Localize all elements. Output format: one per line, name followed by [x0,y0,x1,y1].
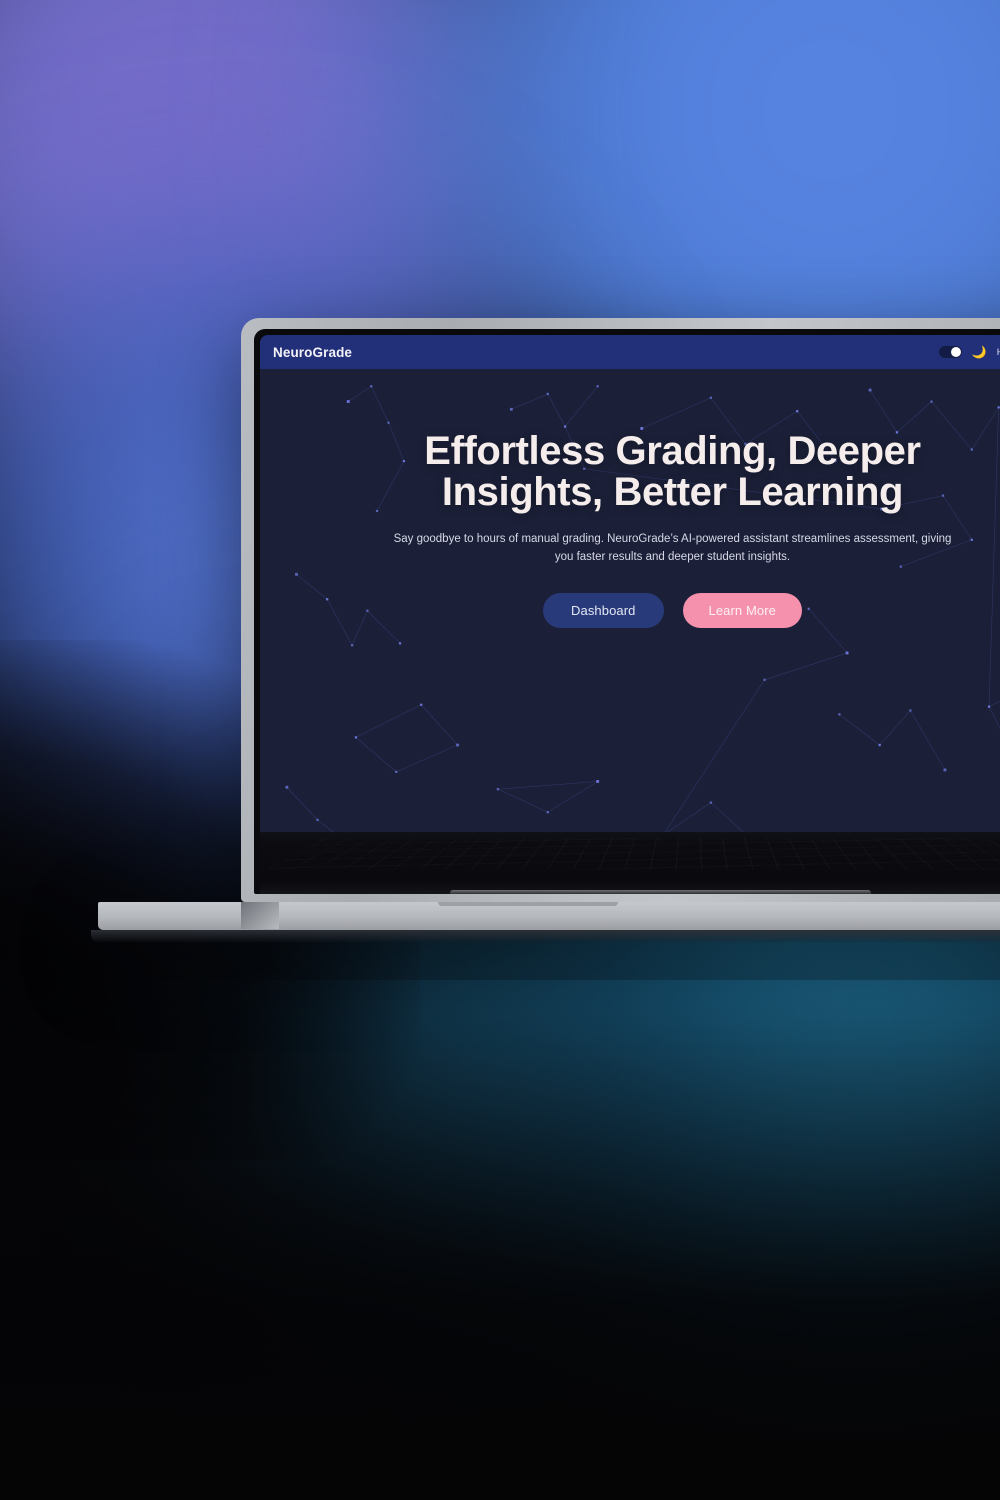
hero-section: Effortless Grading, Deeper Insights, Bet… [260,369,1000,894]
laptop-base [98,902,1000,930]
hero-title: Effortless Grading, Deeper Insights, Bet… [260,431,1000,513]
trackpad-lip [450,890,871,894]
laptop-mockup: NeuroGrade 🌙 Hello, Manik L Effortless G… [241,318,1000,902]
learn-more-button[interactable]: Learn More [683,593,802,628]
header-actions: 🌙 Hello, Manik L [939,341,1000,363]
hero-actions: Dashboard Learn More [260,593,1000,628]
laptop-base-shadow [91,930,1000,942]
laptop-bezel: NeuroGrade 🌙 Hello, Manik L Effortless G… [254,329,1000,894]
hero-content: Effortless Grading, Deeper Insights, Bet… [260,369,1000,628]
hero-subtitle: Say goodbye to hours of manual grading. … [328,531,1000,567]
moon-icon[interactable]: 🌙 [972,346,987,358]
laptop-keyboard-deck [260,832,1000,894]
theme-toggle-switch[interactable] [939,346,962,358]
keyboard-keys [265,838,1000,870]
brand-logo[interactable]: NeuroGrade [273,345,352,360]
laptop-base-notch [438,902,618,906]
laptop-screen: NeuroGrade 🌙 Hello, Manik L Effortless G… [260,335,1000,894]
site-header: NeuroGrade 🌙 Hello, Manik L [260,335,1000,369]
dashboard-button[interactable]: Dashboard [543,593,664,628]
laptop-base-foot [241,902,279,929]
laptop-lid: NeuroGrade 🌙 Hello, Manik L Effortless G… [241,318,1000,902]
